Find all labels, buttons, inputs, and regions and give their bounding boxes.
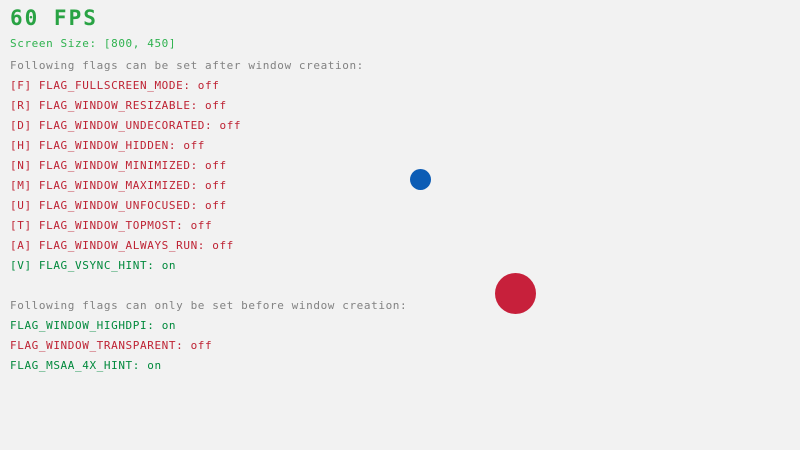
fps-counter: 60 FPS [10, 8, 98, 29]
flag-value: on [162, 319, 176, 332]
flag-row[interactable]: [N] FLAG_WINDOW_MINIMIZED: off [10, 160, 227, 171]
flag-name: FLAG_WINDOW_TOPMOST: [39, 219, 191, 232]
flag-key: [H] [10, 139, 39, 152]
runtime-flags-heading: Following flags can be set after window … [10, 60, 364, 71]
flag-name: FLAG_WINDOW_MAXIMIZED: [39, 179, 205, 192]
flag-row[interactable]: [M] FLAG_WINDOW_MAXIMIZED: off [10, 180, 227, 191]
flag-name: FLAG_WINDOW_HIDDEN: [39, 139, 183, 152]
flag-row[interactable]: [A] FLAG_WINDOW_ALWAYS_RUN: off [10, 240, 234, 251]
flag-name: FLAG_WINDOW_TRANSPARENT: [10, 339, 191, 352]
flag-value: off [212, 239, 234, 252]
flag-value: off [183, 139, 205, 152]
flag-row[interactable]: [R] FLAG_WINDOW_RESIZABLE: off [10, 100, 227, 111]
flag-name: FLAG_WINDOW_UNDECORATED: [39, 119, 220, 132]
flag-value: off [191, 339, 213, 352]
creation-flags-heading: Following flags can only be set before w… [10, 300, 407, 311]
flag-row[interactable]: [V] FLAG_VSYNC_HINT: on [10, 260, 176, 271]
flag-row[interactable]: [U] FLAG_WINDOW_UNFOCUSED: off [10, 200, 227, 211]
flag-row[interactable]: FLAG_MSAA_4X_HINT: on [10, 360, 162, 371]
flag-row[interactable]: FLAG_WINDOW_HIGHDPI: on [10, 320, 176, 331]
flag-value: off [205, 179, 227, 192]
flag-key: [R] [10, 99, 39, 112]
flag-value: off [219, 119, 241, 132]
flag-value: off [205, 159, 227, 172]
flag-key: [M] [10, 179, 39, 192]
flag-name: FLAG_WINDOW_RESIZABLE: [39, 99, 205, 112]
flag-key: [D] [10, 119, 39, 132]
flag-name: FLAG_FULLSCREEN_MODE: [39, 79, 198, 92]
flag-value: on [162, 259, 176, 272]
flag-row[interactable]: [D] FLAG_WINDOW_UNDECORATED: off [10, 120, 241, 131]
flag-name: FLAG_VSYNC_HINT: [39, 259, 162, 272]
flag-key: [N] [10, 159, 39, 172]
flag-value: off [205, 199, 227, 212]
flag-row[interactable]: FLAG_WINDOW_TRANSPARENT: off [10, 340, 212, 351]
flag-name: FLAG_WINDOW_MINIMIZED: [39, 159, 205, 172]
blue-ball[interactable] [410, 169, 431, 190]
flag-name: FLAG_MSAA_4X_HINT: [10, 359, 147, 372]
flag-value: on [147, 359, 161, 372]
flag-name: FLAG_WINDOW_HIGHDPI: [10, 319, 162, 332]
screen-size-readout: Screen Size: [800, 450] [10, 38, 176, 49]
flag-row[interactable]: [T] FLAG_WINDOW_TOPMOST: off [10, 220, 212, 231]
flag-value: off [205, 99, 227, 112]
red-ball[interactable] [495, 273, 536, 314]
raylib-window-canvas: 60 FPS Screen Size: [800, 450] Following… [0, 0, 800, 450]
flag-row[interactable]: [F] FLAG_FULLSCREEN_MODE: off [10, 80, 219, 91]
flag-key: [T] [10, 219, 39, 232]
flag-value: off [191, 219, 213, 232]
flag-key: [V] [10, 259, 39, 272]
flag-key: [F] [10, 79, 39, 92]
flag-key: [A] [10, 239, 39, 252]
flag-row[interactable]: [H] FLAG_WINDOW_HIDDEN: off [10, 140, 205, 151]
flag-name: FLAG_WINDOW_ALWAYS_RUN: [39, 239, 212, 252]
flag-name: FLAG_WINDOW_UNFOCUSED: [39, 199, 205, 212]
flag-value: off [198, 79, 220, 92]
flag-key: [U] [10, 199, 39, 212]
